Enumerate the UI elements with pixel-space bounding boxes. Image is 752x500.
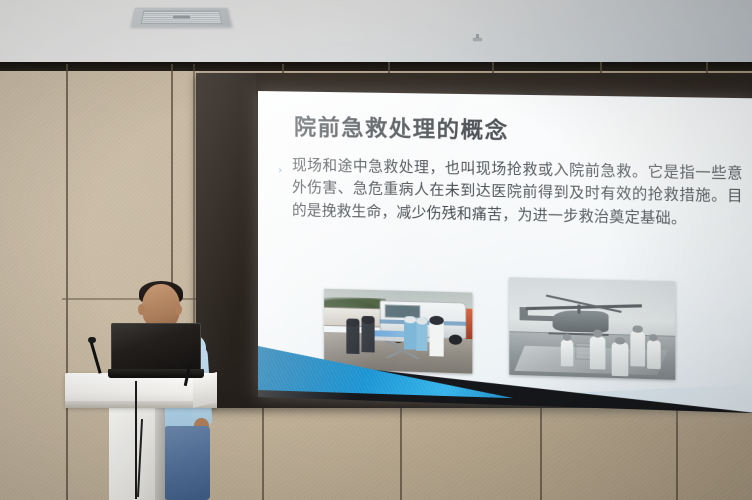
slide-body-text: 现场和途中急救处理，也叫现场抢救或入院前急救。它是指一些意外伤害、急危重病人在未… [292, 155, 743, 232]
presenter-ear [138, 304, 145, 315]
photo-person-head [346, 318, 359, 326]
microphone-head-icon [88, 337, 96, 343]
air-vent-icon [131, 8, 233, 27]
photo-medic [612, 343, 629, 377]
photo-person [361, 316, 374, 353]
presenter-ear [175, 304, 182, 315]
photo-person-head [429, 316, 444, 325]
bullet-marker-icon: › [278, 163, 282, 176]
photo-helicopter [509, 277, 675, 380]
sprinkler-head-right-icon [473, 34, 482, 43]
wall-seam [262, 402, 264, 500]
podium-column-shadow [155, 407, 165, 500]
podium [65, 373, 217, 500]
photo-person [404, 316, 416, 350]
projection-screen: 院前急救处理的概念 › 现场和途中急救处理，也叫现场抢救或入院前急救。它是指一些… [196, 73, 752, 408]
photo-medic-head [563, 333, 571, 340]
photo-person [346, 318, 359, 354]
photo-person-head [404, 316, 416, 324]
photo-medic-head [615, 337, 625, 345]
photo-medic [630, 331, 645, 367]
photo-medic-head [649, 334, 658, 341]
wall-seam [676, 402, 678, 500]
wall-seam [540, 402, 542, 500]
photo-person [416, 317, 428, 351]
slide-title: 院前急救处理的概念 [294, 110, 509, 146]
projected-slide: 院前急救处理的概念 › 现场和途中急救处理，也叫现场抢救或入院前急救。它是指一些… [258, 91, 752, 413]
wall-top-rail [0, 62, 752, 71]
photo-medic-head [593, 330, 603, 338]
photo-person-head [361, 316, 374, 324]
photo-medic [560, 339, 573, 367]
podium-cable [135, 381, 137, 499]
photo-medic [590, 336, 605, 370]
photo-medic-head [633, 325, 643, 333]
presentation-room-photo: 院前急救处理的概念 › 现场和途中急救处理，也叫现场抢救或入院前急救。它是指一些… [0, 0, 752, 500]
photo-person [429, 316, 444, 357]
photo-person-head [416, 317, 428, 325]
wall-seam [400, 402, 402, 500]
vent-core [172, 15, 191, 20]
photo-van-wheel [448, 334, 461, 345]
photo-ambulance [324, 289, 472, 374]
photo-medic [647, 340, 660, 370]
